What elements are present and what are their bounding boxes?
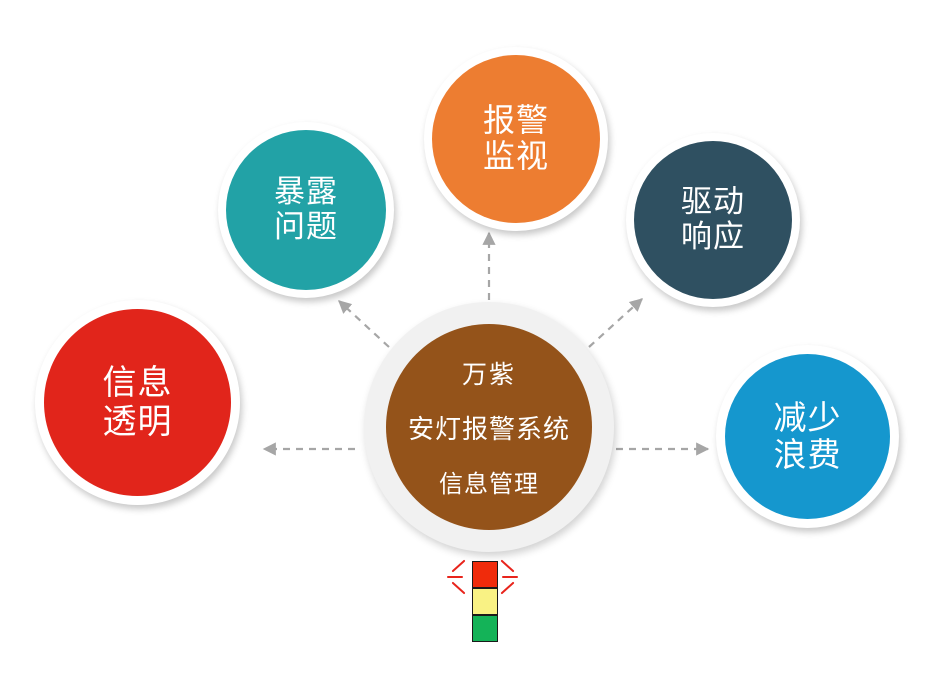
node-drive-response-line1: 驱动 bbox=[681, 185, 745, 220]
node-expose-problems-line1: 暴露 bbox=[274, 175, 338, 210]
node-drive-response[interactable]: 驱动 响应 bbox=[626, 133, 800, 307]
node-reduce-waste-line1: 减少 bbox=[774, 400, 842, 437]
node-alarm-monitoring[interactable]: 报警 监视 bbox=[424, 47, 608, 231]
andon-ray-left-middle bbox=[447, 576, 463, 578]
node-drive-response-disc: 驱动 响应 bbox=[634, 141, 792, 299]
node-reduce-waste-line2: 浪费 bbox=[774, 437, 842, 474]
node-expose-problems-disc: 暴露 问题 bbox=[226, 130, 386, 290]
center-hub[interactable]: 万紫 安灯报警系统 信息管理 bbox=[364, 302, 614, 552]
node-information-transparency-disc: 信息 透明 bbox=[44, 309, 231, 496]
center-hub-line2: 安灯报警系统 bbox=[408, 409, 570, 446]
diagram-canvas: 报警 监视 暴露 问题 驱动 响应 信息 透明 减少 浪费 万紫 安 bbox=[0, 0, 939, 680]
node-reduce-waste[interactable]: 减少 浪费 bbox=[716, 345, 899, 528]
center-hub-disc: 万紫 安灯报警系统 信息管理 bbox=[386, 324, 592, 530]
node-alarm-monitoring-line1: 报警 bbox=[483, 103, 549, 139]
andon-segment-red bbox=[472, 561, 498, 588]
node-information-transparency-line1: 信息 bbox=[103, 364, 173, 402]
andon-ray-right-middle bbox=[502, 576, 518, 578]
connector-hub-to-expose-problems bbox=[339, 301, 389, 347]
node-reduce-waste-disc: 减少 浪费 bbox=[725, 354, 890, 519]
node-expose-problems-line2: 问题 bbox=[274, 210, 338, 245]
center-hub-line1: 万紫 bbox=[462, 355, 516, 391]
node-information-transparency-line2: 透明 bbox=[103, 403, 173, 441]
andon-segment-yellow bbox=[472, 588, 498, 615]
andon-light-tower bbox=[466, 556, 500, 648]
node-information-transparency[interactable]: 信息 透明 bbox=[35, 300, 240, 505]
node-alarm-monitoring-disc: 报警 监视 bbox=[432, 55, 600, 223]
node-expose-problems[interactable]: 暴露 问题 bbox=[218, 122, 394, 298]
center-hub-line3: 信息管理 bbox=[439, 464, 539, 499]
andon-segment-green bbox=[472, 615, 498, 642]
connector-hub-to-drive-response bbox=[589, 299, 642, 347]
node-alarm-monitoring-line2: 监视 bbox=[483, 139, 549, 175]
node-drive-response-line2: 响应 bbox=[681, 220, 745, 255]
